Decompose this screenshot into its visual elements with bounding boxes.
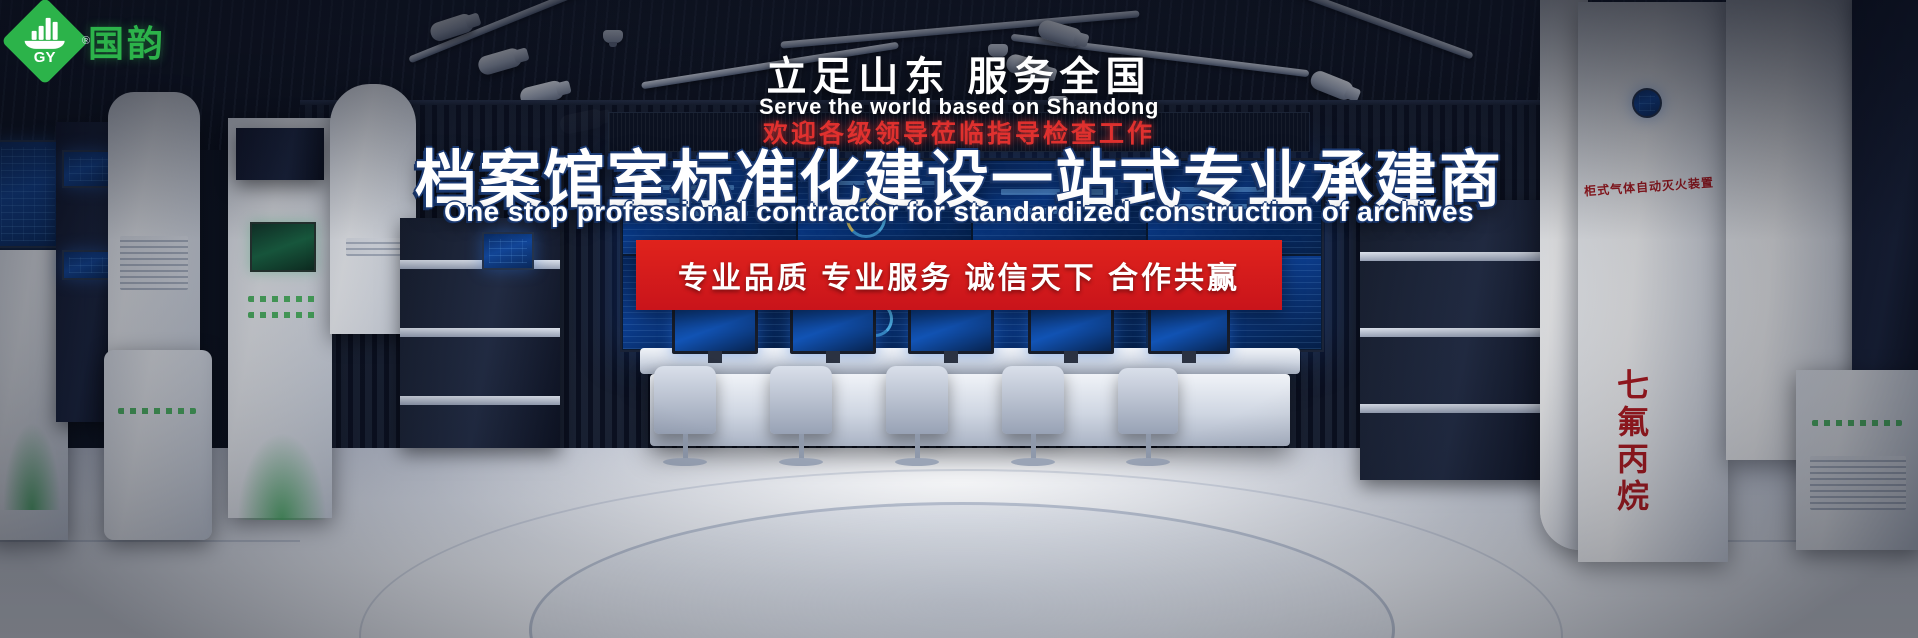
desk-monitor [1148,304,1230,354]
sprinkler-head-icon [603,30,623,43]
headline-english: Serve the world based on Shandong [759,94,1159,120]
right-shelving [1360,200,1550,480]
chair-leg [1031,434,1036,460]
logo-initials: GY [25,50,65,65]
right-dark-edge [1852,0,1918,420]
office-chair [1002,366,1064,434]
cabinet-top-panel [236,128,324,180]
chair-base [779,458,823,466]
chair-leg [915,434,920,460]
shelf-plank [400,328,560,337]
chair-base [895,458,939,466]
shelf-plank [1360,252,1550,261]
slogan-banner: 专业品质 专业服务 诚信天下 合作共赢 [636,240,1282,310]
logo-company-name: 国韵 [88,15,166,67]
status-led-strip [248,296,316,302]
chair-base [1011,458,1055,466]
shelf-plank [400,396,560,405]
status-led-strip [248,312,316,318]
cabinet-touch-panel [250,222,316,272]
wall-display-left [0,140,62,248]
chair-leg [799,434,804,460]
floor-seam [0,540,300,542]
chair-leg [683,434,688,460]
chair-leg [1146,434,1151,460]
status-led-strip [118,408,196,414]
office-chair [770,366,832,434]
office-chair [1118,368,1178,434]
hero-banner: 柜式气体自动灭火装置 七氟丙烷 GY ® 国韵 立足山东 服务全国 Serve … [0,0,1918,638]
swoosh-icon [25,41,65,49]
logo-mark-inner: GY [25,18,65,65]
shelf-plank [1360,404,1550,413]
vent-grille [120,236,188,290]
camera-dome [1632,88,1662,118]
shelf-display [482,232,534,270]
chair-base [663,458,707,466]
shelf-plank [400,260,560,269]
registered-trademark-icon: ® [82,35,90,47]
slogan-text: 专业品质 专业服务 诚信天下 合作共赢 [678,253,1240,297]
office-chair [886,366,948,434]
operator-desk-front [650,374,1290,446]
brand-logo[interactable]: GY ® 国韵 [14,10,166,72]
buildings-icon [25,18,65,40]
vent-grille [1810,456,1906,510]
shelf-plank [1360,328,1550,337]
left-shelving [400,218,560,448]
chair-base [1126,458,1170,466]
cabinet-vertical-label: 七氟丙烷 [1608,368,1654,516]
left-mobile-unit [104,350,212,540]
main-title-english: One stop professional contractor for sta… [444,196,1474,228]
status-led-strip [1812,420,1902,426]
cabinet-graphic [236,430,328,520]
cabinet-graphic [2,420,62,510]
office-chair [654,366,716,434]
vent-grille [346,238,402,256]
